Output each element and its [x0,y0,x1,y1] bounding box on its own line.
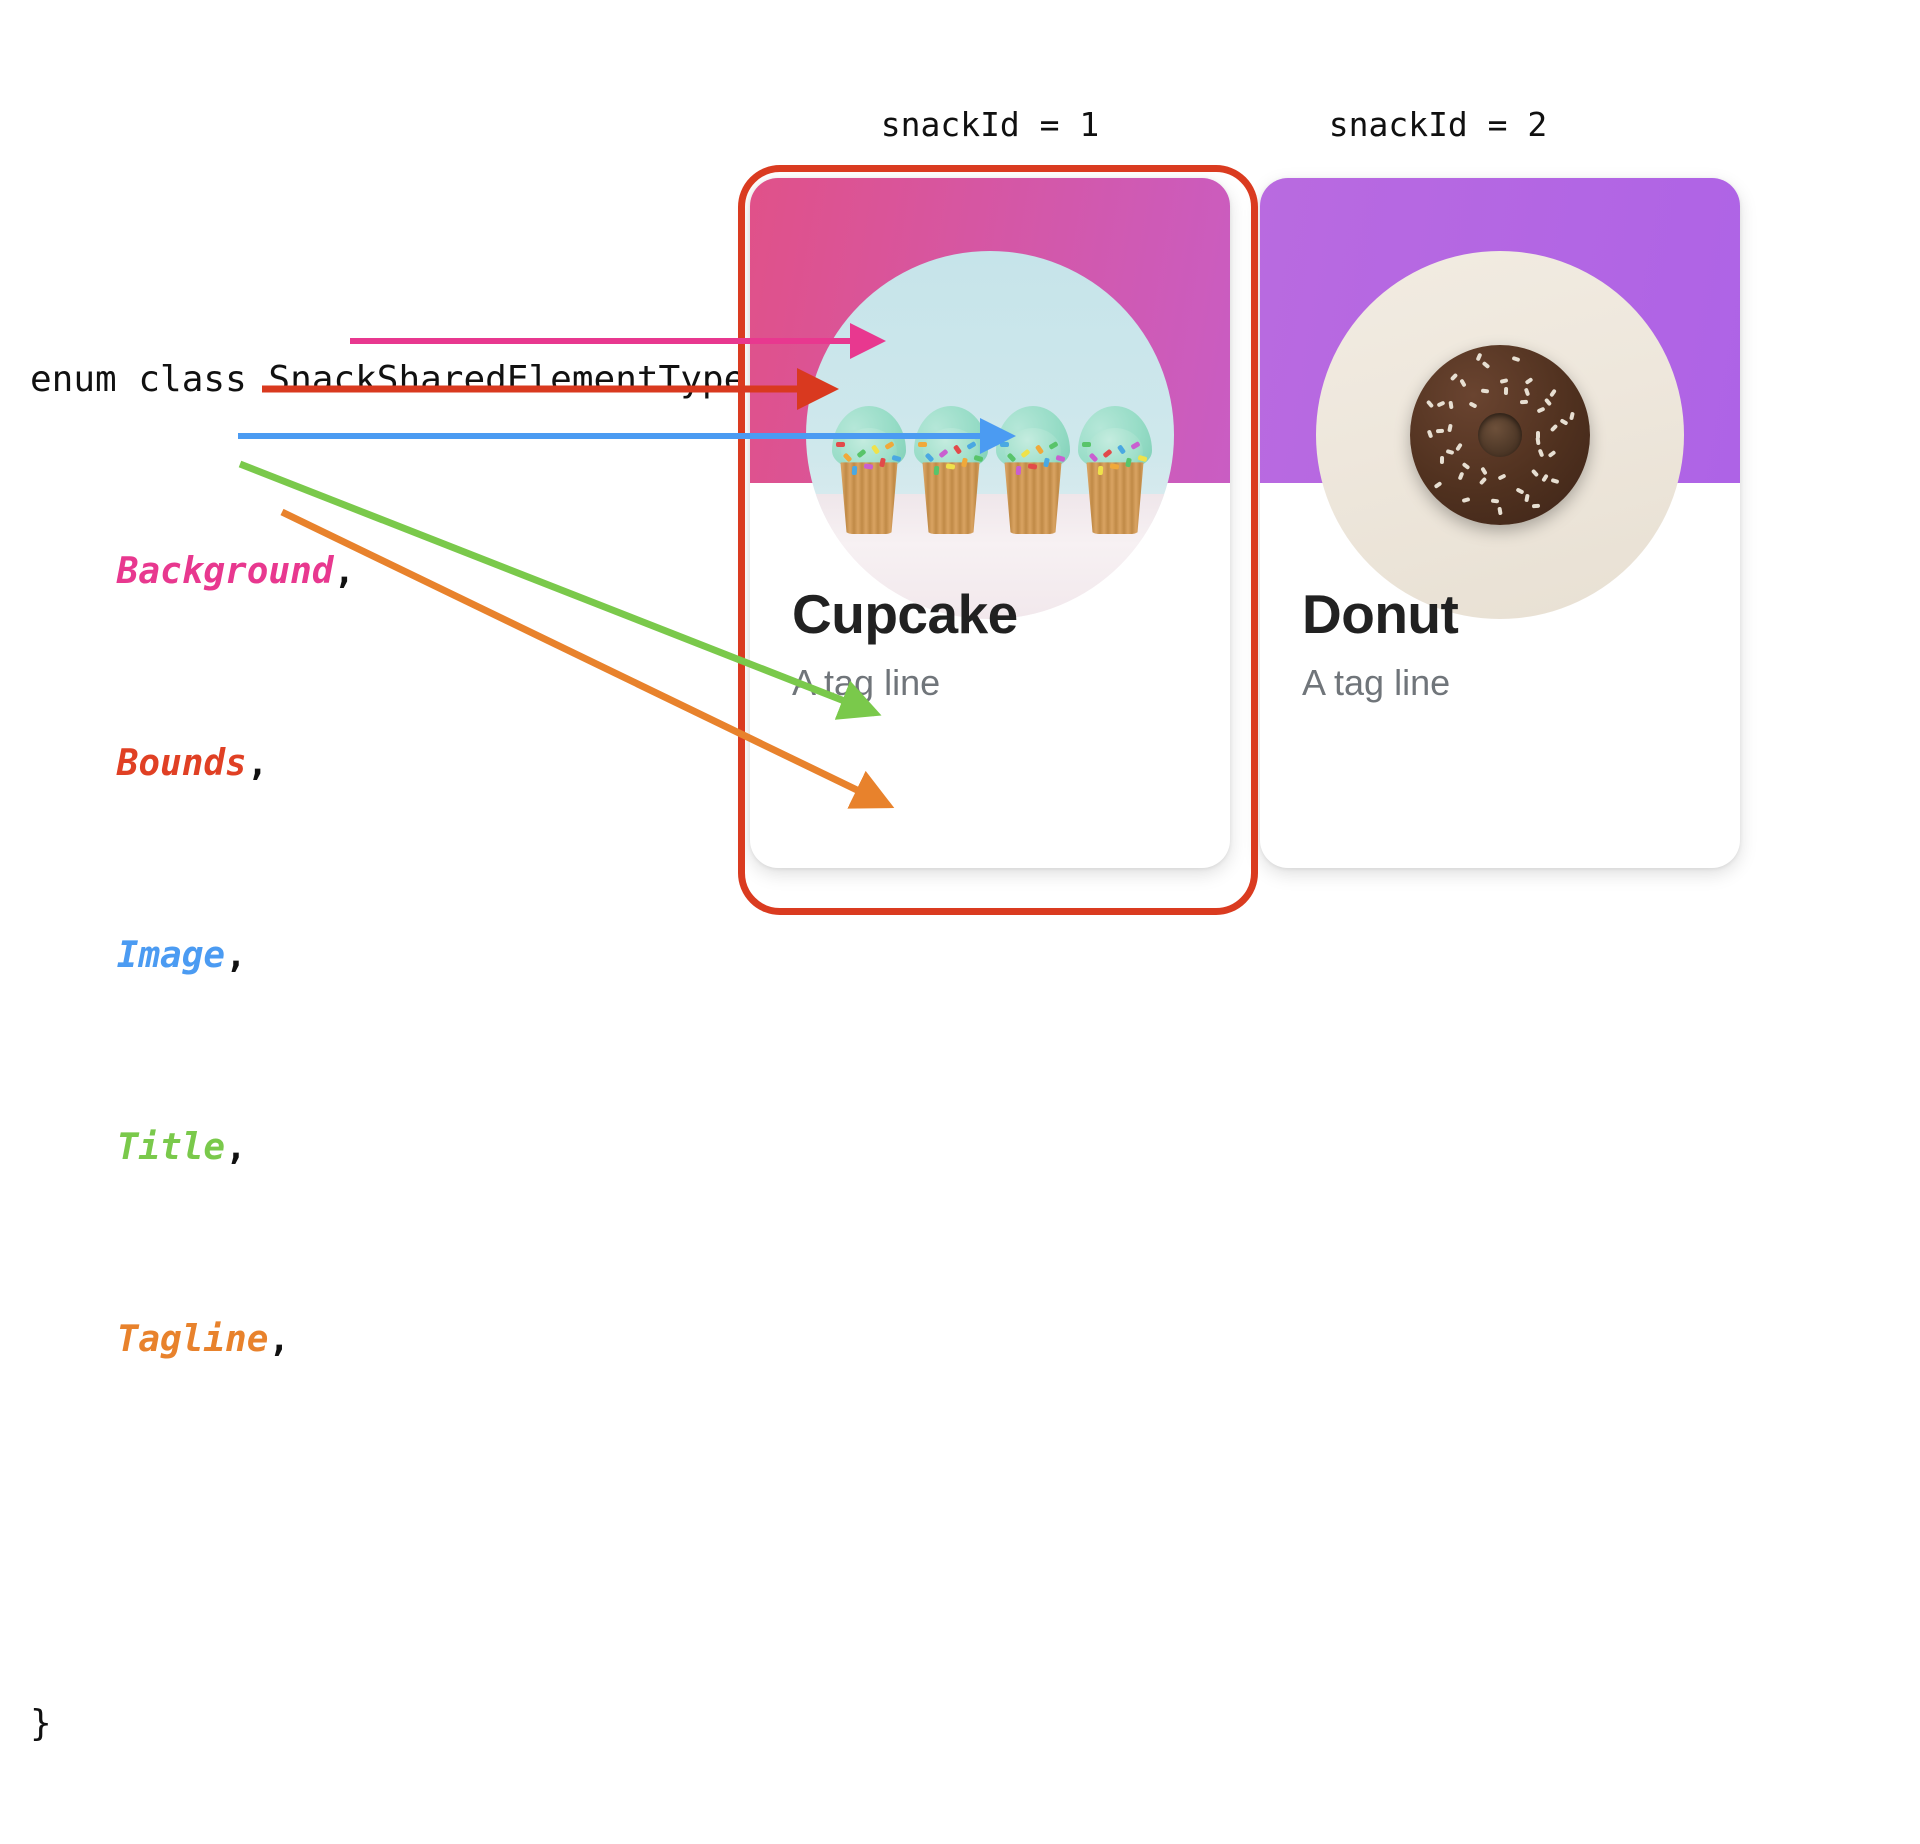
enum-member-tagline: Tagline [117,1319,269,1360]
sprinkle-icon [1449,373,1457,382]
code-comma: , [333,551,355,592]
sprinkle-icon [1538,448,1545,457]
enum-member-title: Title [117,1127,225,1168]
sprinkle-icon [1000,442,1009,447]
sprinkle-icon [1440,455,1444,463]
sprinkle-icon [1448,424,1454,433]
sprinkle-icon [1459,378,1466,387]
sprinkle-icon [1475,352,1482,361]
code-line-declaration: enum class SnackSharedElementType { [30,356,789,404]
enum-member-background: Background [117,551,334,592]
cupcake-liner-icon [1002,462,1064,534]
sprinkle-icon [1550,423,1558,431]
donut-icon [1410,345,1590,525]
sprinkle-icon [1524,494,1529,503]
sprinkle-icon [1098,466,1104,475]
card-title-donut: Donut [1302,582,1458,646]
cupcake-item [996,406,1070,534]
card-title-cupcake: Cupcake [792,582,1018,646]
sprinkle-icon [1462,462,1471,470]
cupcake-photo [806,251,1174,619]
code-comma: , [225,935,247,976]
card-tagline-donut: A tag line [1302,662,1450,704]
sprinkle-icon [1515,487,1524,494]
sprinkle-icon [1559,418,1568,425]
snack-id-label-1: snackId = 1 [881,105,1100,144]
enum-member-image: Image [117,935,225,976]
code-line-title: Title, [30,1124,789,1172]
sprinkle-icon [934,466,940,475]
sprinkle-icon [1480,388,1488,393]
code-line-bounds: Bounds, [30,740,789,788]
code-comma: , [268,1319,290,1360]
sprinkle-icon [1547,450,1556,458]
closing-brace-text: } [30,1703,52,1744]
code-line-blank [30,1508,789,1556]
code-comma: , [225,1127,247,1168]
sprinkle-icon [1469,402,1478,409]
code-line-closing-brace: } [30,1700,789,1748]
sprinkle-icon [1570,411,1576,420]
sprinkle-icon [1436,400,1445,407]
sprinkle-icon [852,466,858,475]
sprinkle-icon [1497,507,1502,516]
diagram-canvas: enum class SnackSharedElementType { Back… [0,0,1920,1080]
sprinkle-icon [1449,401,1454,410]
snack-card-donut[interactable]: Donut A tag line [1260,178,1740,868]
code-line-image: Image, [30,932,789,980]
sprinkle-icon [918,442,927,447]
sprinkle-icon [1491,498,1499,503]
sprinkle-icon [1531,469,1539,478]
code-comma: , [247,743,269,784]
sprinkle-icon [1436,428,1444,433]
sprinkle-icon [1462,497,1471,503]
enum-declaration-text: enum class SnackSharedElementType { [30,359,789,400]
cupcake-item [832,406,906,534]
sprinkle-icon [1434,482,1443,490]
sprinkle-icon [1537,407,1546,414]
sprinkle-icon [1498,473,1507,480]
sprinkle-icon [1535,436,1540,444]
sprinkle-icon [1446,449,1455,455]
snack-id-label-2: snackId = 2 [1329,105,1548,144]
sprinkle-icon [1551,478,1560,484]
sprinkle-icon [1504,387,1508,395]
sprinkle-icon [1427,430,1433,439]
code-snippet: enum class SnackSharedElementType { Back… [30,260,789,1844]
cupcake-item [1078,406,1152,534]
sprinkle-icon [1524,387,1530,396]
donut-photo [1316,251,1684,619]
sprinkle-icon [1524,377,1533,385]
sprinkle-icon [1543,397,1551,406]
cupcake-liner-icon [838,462,900,534]
card-tagline-cupcake: A tag line [792,662,940,704]
sprinkle-icon [1541,473,1549,482]
sprinkle-icon [1500,378,1509,384]
enum-member-bounds: Bounds [117,743,247,784]
sprinkle-icon [1479,477,1487,486]
sprinkle-icon [836,442,845,447]
sprinkle-icon [1455,442,1463,451]
code-line-tagline: Tagline, [30,1316,789,1364]
snack-card-cupcake[interactable]: Cupcake A tag line [750,178,1230,868]
code-line-background: Background, [30,548,789,596]
cupcake-item [914,406,988,534]
sprinkle-icon [1481,361,1490,369]
sprinkle-icon [1511,355,1520,361]
sprinkle-icon [1549,388,1557,397]
cupcake-liner-icon [1084,462,1146,534]
sprinkle-icon [1082,442,1091,447]
sprinkle-icon [1426,399,1434,408]
cupcake-liner-icon [920,462,982,534]
sprinkle-icon [1520,399,1528,403]
donut-hole-icon [1478,413,1522,457]
sprinkle-icon [1531,503,1539,508]
sprinkle-icon [1458,471,1465,480]
sprinkle-icon [1480,466,1488,475]
sprinkle-icon [1016,466,1022,475]
